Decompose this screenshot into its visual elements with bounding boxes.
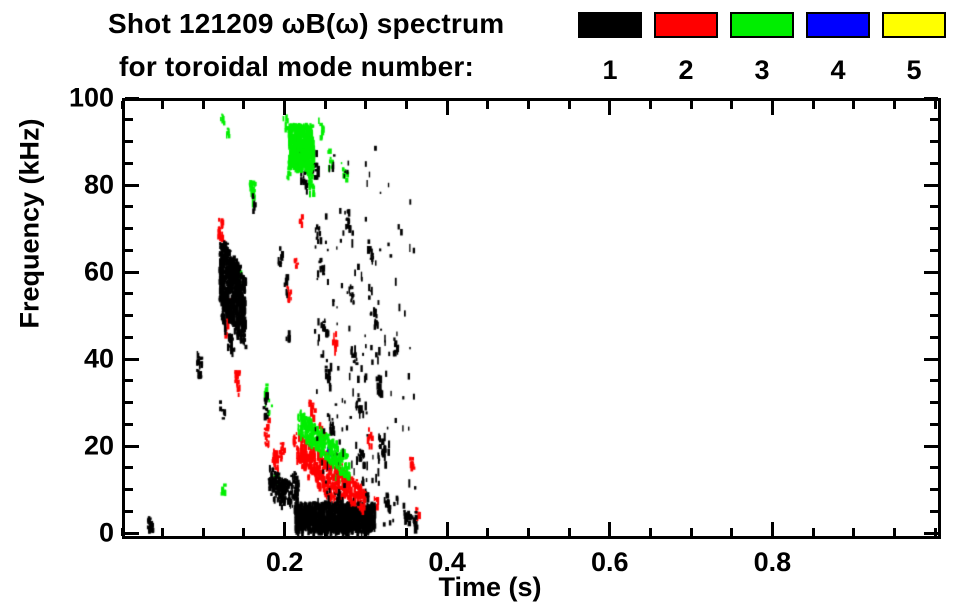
y-axis-title: Frequency (kHz)	[15, 59, 46, 389]
x-tick-top-major-0.40	[446, 101, 449, 115]
x-tick-top-minor-0.50	[527, 101, 530, 109]
y-tick-label-0: 0	[14, 518, 114, 549]
y-tick-right-minor-85	[930, 162, 938, 165]
y-tick-right-minor-5	[930, 510, 938, 513]
y-tick-minor-90	[125, 140, 133, 143]
legend: 12345	[578, 12, 958, 94]
x-tick-top-minor-0.90	[852, 101, 855, 109]
legend-item-1[interactable]: 1	[578, 12, 644, 94]
figure-title-line-1: Shot 121209 ωB(ω) spectrum	[108, 8, 504, 40]
x-tick-label-0.8: 0.8	[712, 547, 832, 578]
y-tick-major-20	[125, 445, 139, 448]
x-tick-top-minor-0.05	[161, 101, 164, 109]
x-tick-top-minor-0.55	[568, 101, 571, 109]
y-tick-right-minor-50	[930, 314, 938, 317]
y-tick-minor-85	[125, 162, 133, 165]
x-tick-minor-0.05	[161, 528, 164, 536]
y-tick-minor-95	[125, 118, 133, 121]
x-tick-minor-0.15	[242, 528, 245, 536]
x-tick-top-major-0.80	[771, 101, 774, 115]
y-tick-right-minor-35	[930, 379, 938, 382]
y-tick-right-major-20	[924, 445, 938, 448]
y-tick-right-minor-10	[930, 488, 938, 491]
x-tick-minor-0.85	[812, 528, 815, 536]
x-tick-minor-0.90	[852, 528, 855, 536]
legend-item-3[interactable]: 3	[730, 12, 796, 94]
legend-swatch-4	[806, 12, 870, 38]
y-tick-major-0	[125, 532, 139, 535]
x-tick-minor-0.55	[568, 528, 571, 536]
x-tick-minor-0.10	[202, 528, 205, 536]
y-tick-minor-15	[125, 466, 133, 469]
x-tick-major-0.40	[446, 522, 449, 536]
x-tick-minor-0.95	[893, 528, 896, 536]
spectrogram-data-canvas	[125, 101, 938, 536]
x-tick-minor-0.30	[364, 528, 367, 536]
y-tick-right-minor-70	[930, 227, 938, 230]
y-tick-right-minor-65	[930, 249, 938, 252]
y-tick-minor-70	[125, 227, 133, 230]
y-tick-minor-75	[125, 205, 133, 208]
legend-label-5: 5	[882, 55, 946, 86]
x-tick-major-0.60	[608, 522, 611, 536]
y-tick-minor-5	[125, 510, 133, 513]
x-tick-top-minor-0.35	[405, 101, 408, 109]
legend-item-4[interactable]: 4	[806, 12, 872, 94]
x-tick-top-minor-0.00	[121, 101, 124, 109]
legend-item-5[interactable]: 5	[882, 12, 948, 94]
x-tick-minor-0.25	[324, 528, 327, 536]
y-tick-major-80	[125, 184, 139, 187]
y-tick-right-major-100	[924, 97, 938, 100]
y-tick-right-minor-45	[930, 336, 938, 339]
x-tick-major-0.20	[283, 522, 286, 536]
plot-area	[122, 98, 941, 539]
y-tick-minor-50	[125, 314, 133, 317]
y-tick-major-100	[125, 97, 139, 100]
y-tick-right-minor-75	[930, 205, 938, 208]
y-tick-right-minor-30	[930, 401, 938, 404]
x-tick-top-minor-0.15	[242, 101, 245, 109]
x-tick-label-0.2: 0.2	[225, 547, 345, 578]
x-tick-minor-0.50	[527, 528, 530, 536]
y-tick-minor-10	[125, 488, 133, 491]
x-tick-top-minor-0.45	[486, 101, 489, 109]
x-axis-title: Time (s)	[390, 572, 590, 603]
x-tick-top-major-0.20	[283, 101, 286, 115]
y-tick-minor-30	[125, 401, 133, 404]
x-tick-minor-0.65	[649, 528, 652, 536]
y-tick-major-40	[125, 358, 139, 361]
legend-label-2: 2	[654, 55, 718, 86]
x-tick-minor-0.75	[730, 528, 733, 536]
y-tick-label-20: 20	[14, 431, 114, 462]
y-tick-major-60	[125, 271, 139, 274]
x-tick-major-0.80	[771, 522, 774, 536]
legend-swatch-2	[654, 12, 718, 38]
y-tick-right-minor-15	[930, 466, 938, 469]
x-tick-minor-0.45	[486, 528, 489, 536]
x-tick-top-major-0.60	[608, 101, 611, 115]
y-tick-right-minor-25	[930, 423, 938, 426]
x-tick-top-minor-0.30	[364, 101, 367, 109]
legend-swatch-1	[578, 12, 642, 38]
x-tick-top-minor-0.65	[649, 101, 652, 109]
y-tick-right-minor-55	[930, 292, 938, 295]
x-tick-minor-0.35	[405, 528, 408, 536]
legend-swatch-3	[730, 12, 794, 38]
spectrogram-figure: Shot 121209 ωB(ω) spectrum for toroidal …	[0, 0, 963, 615]
x-tick-top-minor-0.95	[893, 101, 896, 109]
y-tick-right-minor-90	[930, 140, 938, 143]
y-tick-right-major-80	[924, 184, 938, 187]
y-tick-right-minor-95	[930, 118, 938, 121]
legend-item-2[interactable]: 2	[654, 12, 720, 94]
x-tick-top-minor-0.10	[202, 101, 205, 109]
y-tick-right-major-40	[924, 358, 938, 361]
y-tick-minor-25	[125, 423, 133, 426]
x-tick-top-minor-0.25	[324, 101, 327, 109]
y-tick-minor-35	[125, 379, 133, 382]
y-tick-minor-55	[125, 292, 133, 295]
x-tick-minor-1.00	[934, 528, 937, 536]
legend-swatch-5	[882, 12, 946, 38]
figure-title-line-2: for toroidal mode number:	[119, 51, 474, 83]
legend-label-1: 1	[578, 55, 642, 86]
x-tick-top-minor-0.85	[812, 101, 815, 109]
x-tick-top-minor-0.75	[730, 101, 733, 109]
legend-label-3: 3	[730, 55, 794, 86]
y-tick-minor-65	[125, 249, 133, 252]
x-tick-top-minor-1.00	[934, 101, 937, 109]
x-tick-top-minor-0.70	[690, 101, 693, 109]
x-tick-minor-0.00	[121, 528, 124, 536]
x-tick-minor-0.70	[690, 528, 693, 536]
legend-label-4: 4	[806, 55, 870, 86]
y-tick-minor-45	[125, 336, 133, 339]
y-tick-right-major-60	[924, 271, 938, 274]
